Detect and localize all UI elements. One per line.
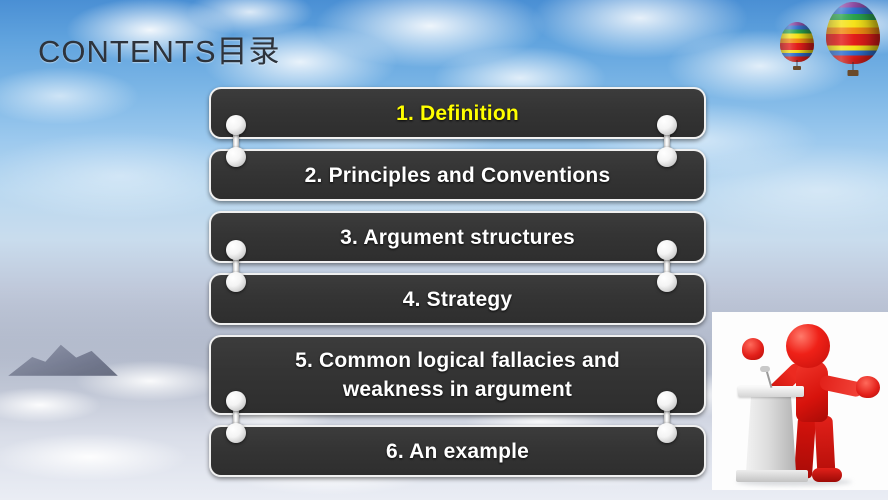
contents-item-5[interactable]: 5. Common logical fallacies and weakness… [209, 335, 706, 415]
contents-item-label: 1. Definition [340, 99, 575, 128]
contents-item-1[interactable]: 1. Definition [209, 87, 706, 139]
contents-item-label: 6. An example [330, 437, 585, 466]
contents-item-6[interactable]: 6. An example [209, 425, 706, 477]
speaker-head [786, 324, 830, 368]
balloon-basket [793, 66, 801, 70]
balloon-envelope [826, 2, 880, 64]
microphone-icon [760, 366, 770, 372]
hot-air-balloon-icon-small [780, 22, 814, 62]
contents-item-2[interactable]: 2. Principles and Conventions [209, 149, 706, 201]
hot-air-balloon-icon-large [826, 2, 880, 64]
balloon-envelope [780, 22, 814, 62]
contents-item-label: 5. Common logical fallacies and weakness… [211, 346, 704, 404]
contents-list: 1. Definition 2. Principles and Conventi… [209, 87, 706, 487]
podium-body [746, 396, 796, 472]
speaker-left-hand [742, 338, 764, 360]
page-title: CONTENTS目录 [38, 26, 281, 71]
balloon-basket [848, 70, 859, 76]
slide-canvas: CONTENTS目录 1. Definition 2. Principles a… [0, 0, 888, 500]
podium-base [736, 470, 808, 482]
contents-item-3[interactable]: 3. Argument structures [209, 211, 706, 263]
contents-item-4[interactable]: 4. Strategy [209, 273, 706, 325]
speaker-image-panel [712, 312, 888, 490]
contents-item-label: 4. Strategy [347, 285, 569, 314]
hot-air-balloons-group [750, 0, 888, 72]
speaker-foot [812, 468, 842, 482]
contents-item-label: 2. Principles and Conventions [249, 161, 667, 190]
speaker-at-podium-icon [712, 312, 888, 490]
speaker-right-hand [856, 376, 880, 398]
contents-item-label: 3. Argument structures [284, 223, 631, 252]
